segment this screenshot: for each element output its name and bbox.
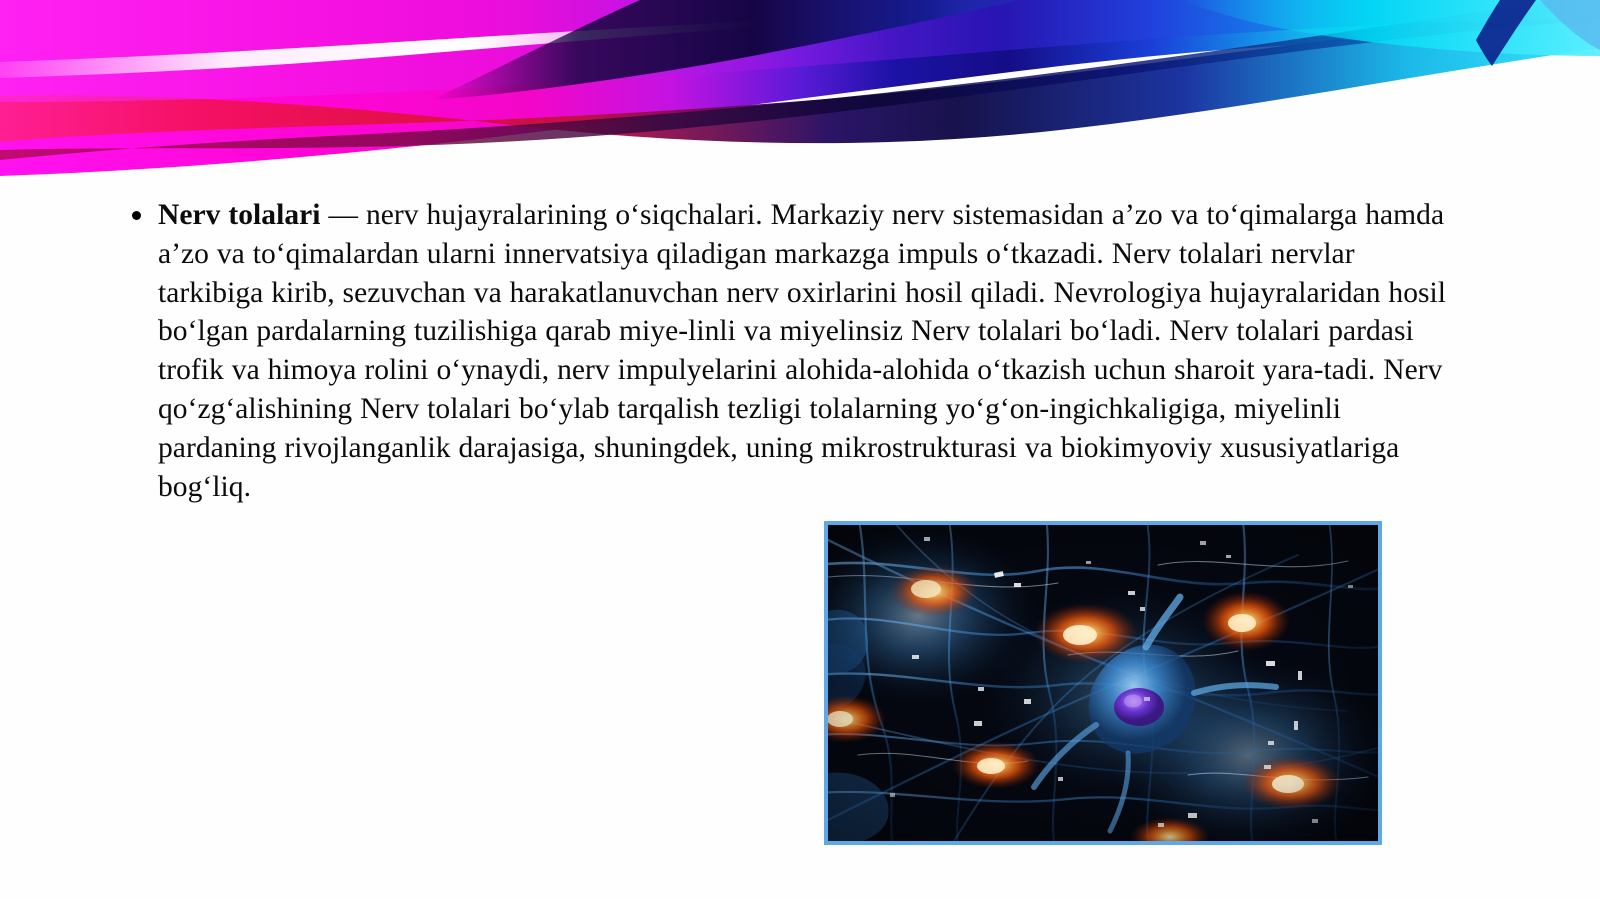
flare-top-left	[890, 565, 978, 617]
flare-left-lower	[828, 695, 886, 743]
wave-cyan-tail	[1180, 0, 1600, 56]
flare-upper-center	[1034, 603, 1138, 663]
wave-graphic	[0, 0, 1600, 200]
body-paragraph: Nerv tolalari — nerv hujayralarining o‘s…	[158, 196, 1462, 506]
wave-white-streak	[0, 22, 763, 78]
nerve-fiber-mesh	[828, 525, 1378, 841]
wave-right-pale-sliver	[1540, 0, 1600, 50]
vesicle-speckles	[890, 537, 1353, 827]
wave-navy-streak	[430, 0, 1020, 100]
wave-layer-violet-cap	[0, 0, 1600, 102]
wave-right-dark-slash	[1476, 0, 1536, 66]
paragraph-lead-term: Nerv tolalari	[158, 199, 321, 231]
flare-bottom-left	[952, 741, 1040, 789]
neuron-image-canvas	[828, 525, 1378, 841]
fiber-highlights	[828, 561, 1368, 780]
ambient-haze	[828, 525, 1378, 841]
paragraph-dash: —	[321, 199, 366, 231]
neuron-network-image[interactable]	[824, 521, 1382, 845]
header-wave-ribbon	[0, 0, 1600, 200]
wave-layer-main	[0, 0, 1600, 176]
bullet-list-item: Nerv tolalari — nerv hujayralarining o‘s…	[0, 196, 1600, 506]
wave-layer-lower	[0, 8, 1600, 143]
flare-bottom-right	[1242, 756, 1342, 810]
synaptic-flares	[828, 565, 1342, 841]
bullet-point-icon	[132, 211, 141, 220]
slide-body: Nerv tolalari — nerv hujayralarining o‘s…	[0, 196, 1600, 506]
central-neuron-soma	[1034, 597, 1276, 831]
wave-layer-dark-underside	[0, 0, 1600, 160]
neuron-illustration	[828, 525, 1378, 841]
paragraph-text: nerv hujayralarining o‘siqchalari. Marka…	[158, 199, 1446, 503]
left-cell-shapes	[828, 610, 889, 841]
neuron-nucleus	[1114, 688, 1164, 726]
flare-bottom-center	[1130, 817, 1210, 841]
slide-canvas: Nerv tolalari — nerv hujayralarining o‘s…	[0, 0, 1600, 899]
flare-upper-right	[1202, 591, 1290, 651]
